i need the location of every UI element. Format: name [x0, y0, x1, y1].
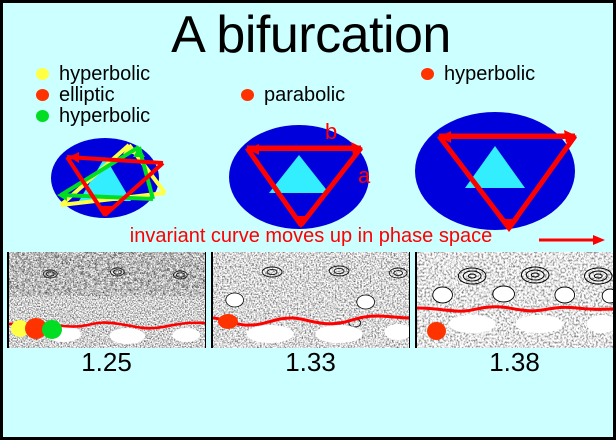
legend-item-label: parabolic: [264, 84, 345, 106]
phase-plot-panel-2: [211, 252, 410, 348]
label-b: b: [325, 119, 337, 144]
phase-plot-label-3: 1.38: [415, 347, 614, 377]
page-title: A bifurcation: [3, 7, 616, 63]
legend-item-hyperbolic-yellow: hyperbolic: [36, 63, 150, 85]
legend-dot-icon: [421, 68, 434, 80]
legend-item-label: hyperbolic: [59, 105, 150, 127]
phase-plot-label-2: 1.33: [211, 347, 410, 377]
legend-item-label: elliptic: [59, 84, 115, 106]
phase-plot-panel-3: [415, 252, 615, 348]
caption-text: invariant curve moves up in phase space: [3, 225, 616, 247]
legend-dot-icon: [241, 89, 254, 101]
legend-item-label: hyperbolic: [444, 63, 535, 85]
invariant-curve: [417, 252, 614, 348]
legend-item-parabolic: parabolic: [241, 84, 345, 106]
diagram-large-triangle: [405, 106, 583, 234]
legend-dot-icon: [36, 68, 49, 80]
caption-right-arrow-icon: [539, 233, 607, 247]
diagram-labeled-triangle: b a: [221, 115, 381, 233]
diagram-three-triangle-star: [43, 133, 173, 228]
legend-dot-icon: [36, 89, 49, 101]
legend-item-elliptic-red: elliptic: [36, 84, 115, 106]
legend-item-label: hyperbolic: [59, 63, 150, 85]
legend-dot-icon: [36, 110, 49, 122]
phase-dot-hyperbolic-red: [427, 322, 446, 340]
label-a: a: [358, 163, 371, 188]
phase-dot-hyperbolic-green: [42, 320, 62, 339]
phase-dot-parabolic-red: [218, 314, 238, 329]
slide-canvas: A bifurcation hyperbolic elliptic hyperb…: [0, 0, 616, 440]
phase-plot-label-1: 1.25: [7, 347, 206, 377]
legend-item-hyperbolic-green: hyperbolic: [36, 105, 150, 127]
phase-plot-panel-1: [7, 252, 206, 348]
legend-item-hyperbolic-red: hyperbolic: [421, 63, 535, 85]
invariant-curve: [213, 252, 409, 348]
